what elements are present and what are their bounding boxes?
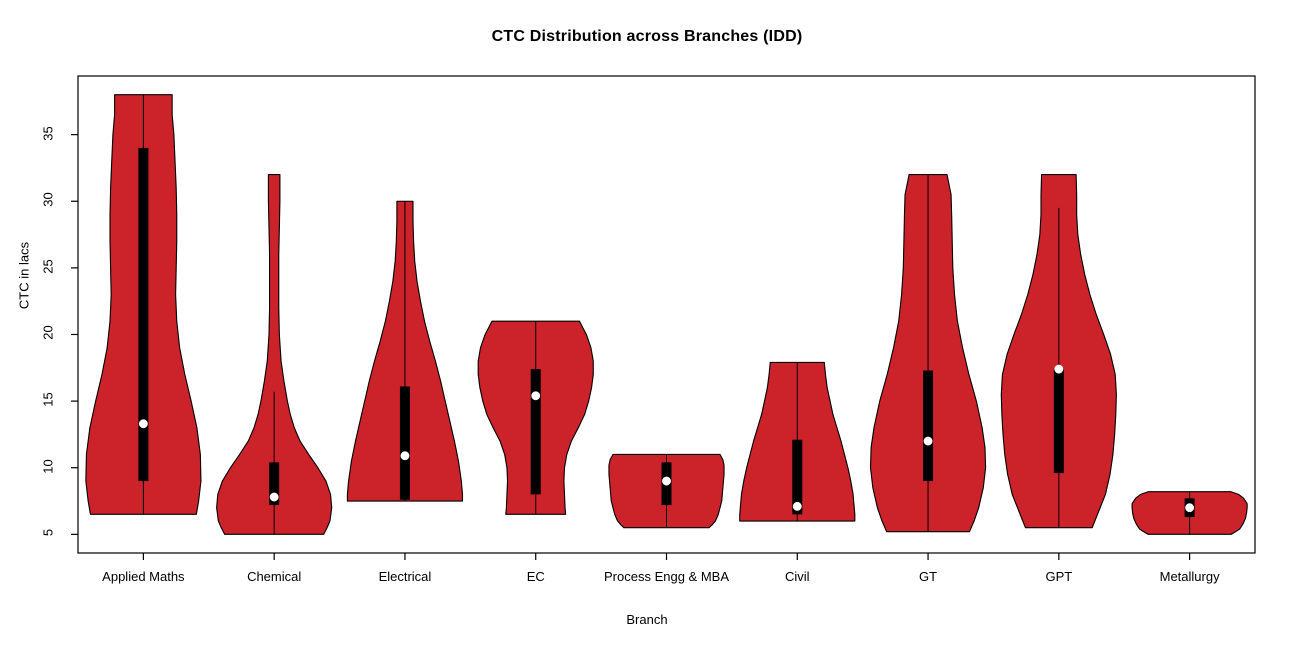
median-point bbox=[401, 452, 409, 460]
y-tick-label: 25 bbox=[41, 249, 56, 283]
y-tick-label: 5 bbox=[41, 516, 56, 550]
plot-area bbox=[0, 0, 1294, 653]
violins-layer bbox=[86, 95, 1247, 535]
x-tick-label: Electrical bbox=[379, 569, 432, 584]
x-tick-label: Chemical bbox=[247, 569, 301, 584]
violin-applied-maths bbox=[86, 95, 201, 515]
x-tick-label: GT bbox=[919, 569, 937, 584]
violin-metallurgy bbox=[1132, 492, 1247, 535]
iqr-box bbox=[138, 148, 148, 481]
x-tick-label: Process Engg & MBA bbox=[604, 569, 729, 584]
y-tick-label: 20 bbox=[41, 316, 56, 350]
violin-ec bbox=[478, 321, 593, 514]
x-tick-label: Civil bbox=[785, 569, 810, 584]
x-tick-label: EC bbox=[527, 569, 545, 584]
y-tick-label: 10 bbox=[41, 449, 56, 483]
violin-chemical bbox=[217, 175, 332, 535]
iqr-box bbox=[400, 386, 410, 499]
median-point bbox=[139, 420, 147, 428]
iqr-box bbox=[923, 370, 933, 481]
violin-civil bbox=[740, 362, 855, 521]
median-point bbox=[1185, 503, 1193, 511]
x-tick-label: Metallurgy bbox=[1160, 569, 1220, 584]
violin-gpt bbox=[1001, 175, 1116, 528]
median-point bbox=[793, 502, 801, 510]
violin-electrical bbox=[347, 201, 462, 501]
x-tick-label: Applied Maths bbox=[102, 569, 184, 584]
iqr-box bbox=[531, 369, 541, 494]
median-point bbox=[532, 392, 540, 400]
median-point bbox=[1055, 365, 1063, 373]
median-point bbox=[924, 437, 932, 445]
violin-gt bbox=[871, 175, 986, 532]
iqr-box bbox=[1054, 369, 1064, 473]
median-point bbox=[270, 493, 278, 501]
median-point bbox=[662, 477, 670, 485]
violin-chart: CTC Distribution across Branches (IDD) C… bbox=[0, 0, 1294, 653]
y-tick-label: 15 bbox=[41, 383, 56, 417]
y-tick-label: 35 bbox=[41, 116, 56, 150]
violin-process-engg-mba bbox=[609, 454, 724, 527]
x-tick-label: GPT bbox=[1045, 569, 1072, 584]
y-tick-label: 30 bbox=[41, 183, 56, 217]
